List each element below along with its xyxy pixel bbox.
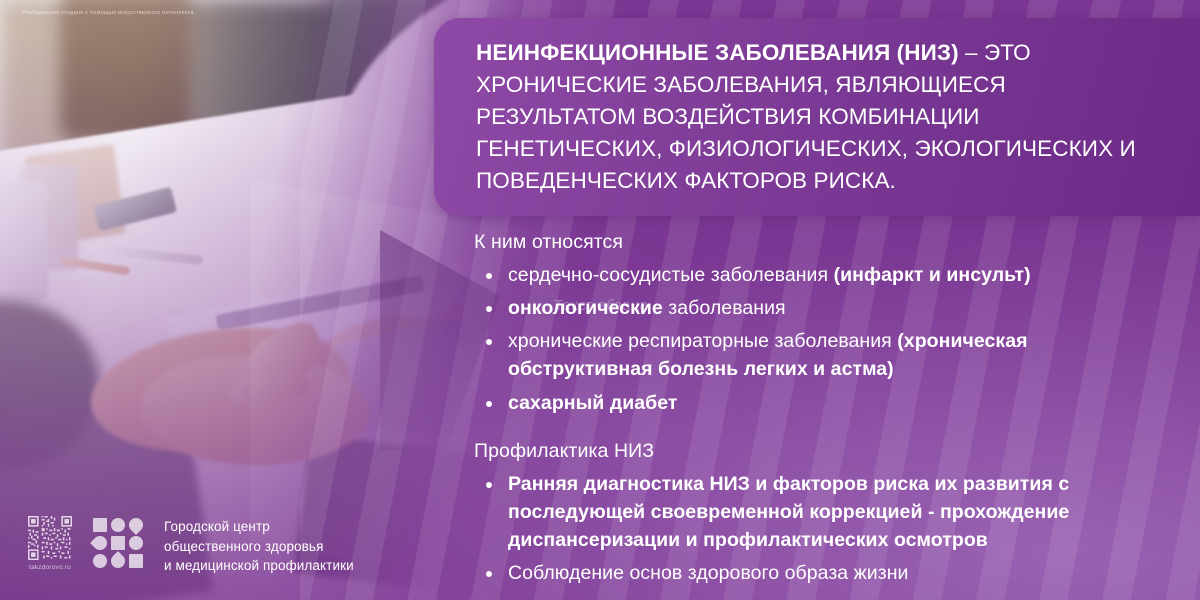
ai-disclaimer-note: Изображение создано с помощью искусствен… — [22, 10, 194, 16]
logo-shape-square-3 — [129, 554, 143, 568]
logo-shape-circle-1 — [111, 518, 125, 532]
qr-url-label: takzdorovo.ru — [29, 564, 71, 571]
logo-shape-heart-3 — [108, 551, 128, 571]
diseases-lead-label: К ним относятся — [474, 228, 1174, 257]
item-plain: Соблюдение основ здорового образа жизни — [508, 562, 908, 584]
item-plain: хронические респираторные заболевания — [508, 330, 897, 352]
header-bold-term: НЕИНФЕКЦИОННЫЕ ЗАБОЛЕВАНИЯ (НИЗ) — [476, 40, 959, 65]
list-item: сахарный диабет — [474, 389, 1174, 417]
logo-shape-heart-2 — [90, 533, 110, 553]
item-bold: Ранняя диагностика НИЗ и факторов риска … — [508, 473, 1069, 551]
photo-desk-bottle — [0, 180, 48, 300]
item-tail: заболевания — [663, 297, 786, 319]
qr-code-icon[interactable] — [28, 516, 72, 560]
logo-shape-circle-2 — [129, 536, 143, 550]
logo-shape-square-2 — [111, 536, 125, 550]
slide-root: Изображение создано с помощью искусствен… — [0, 0, 1200, 600]
item-plain: сердечно-сосудистые заболевания — [508, 264, 834, 286]
footer-branding: takzdorovo.ru Городской центр общественн… — [28, 516, 354, 576]
qr-block[interactable]: takzdorovo.ru — [28, 516, 72, 571]
logo-shape-heart-1 — [126, 515, 146, 535]
list-item: Соблюдение основ здорового образа жизни — [474, 559, 1174, 587]
prevention-list: Ранняя диагностика НИЗ и факторов риска … — [474, 470, 1174, 587]
item-bold: сахарный диабет — [508, 392, 678, 414]
photo-background-chair — [60, 0, 190, 140]
logo-shape-square-1 — [93, 518, 107, 532]
list-item: хронические респираторные заболевания (х… — [474, 327, 1174, 383]
diseases-list: Текст абзаца сердечно-сосудистые заболев… — [474, 261, 1174, 416]
org-line-1: Городской центр — [164, 517, 354, 537]
list-item: сердечно-сосудистые заболевания (инфаркт… — [474, 261, 1174, 289]
logo-shape-circle-3 — [93, 554, 107, 568]
content-area: К ним относятся Текст абзаца сердечно-со… — [474, 228, 1174, 592]
org-line-2: общественного здоровья — [164, 537, 354, 557]
list-item: онкологические заболевания — [474, 294, 1174, 322]
org-line-3: и медицинской профилактики — [164, 556, 354, 576]
prevention-lead-label: Профилактика НИЗ — [474, 437, 1174, 466]
item-bold: онкологические — [508, 297, 663, 319]
organization-name: Городской центр общественного здоровья и… — [164, 517, 354, 576]
header-text-block: НЕИНФЕКЦИОННЫЕ ЗАБОЛЕВАНИЯ (НИЗ) – ЭТО Х… — [434, 37, 1200, 197]
list-item: Ранняя диагностика НИЗ и факторов риска … — [474, 470, 1174, 554]
item-bold: (инфаркт и инсульт) — [834, 264, 1031, 286]
header-panel: НЕИНФЕКЦИОННЫЕ ЗАБОЛЕВАНИЯ (НИЗ) – ЭТО Х… — [434, 18, 1200, 216]
organization-logo-mark — [93, 518, 143, 568]
